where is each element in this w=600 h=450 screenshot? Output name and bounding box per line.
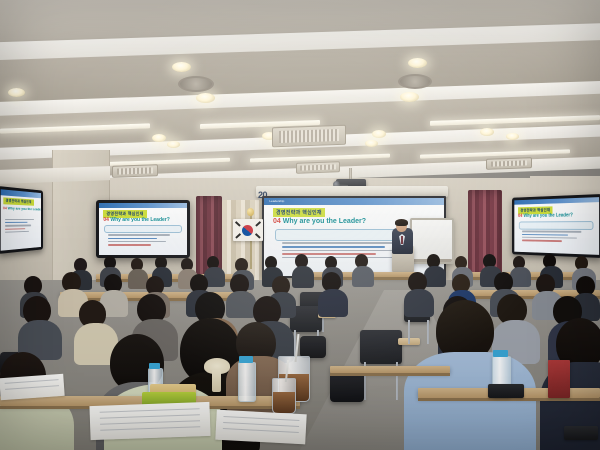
slide-heading-text: Why are you the Leader? [110, 217, 169, 223]
slide-heading: 04 Why are you the Leader? [273, 218, 366, 225]
slide-heading-text: Why are you the Leader? [8, 206, 41, 212]
ceiling-downlight [372, 130, 386, 138]
slide-topbar [99, 203, 187, 208]
torso [128, 269, 148, 289]
left-wall-tv[interactable]: 경영전략과 핵심인재 04 Why are you the Leader? [0, 186, 43, 254]
slide-topbar-label: Leadership [269, 199, 284, 203]
presenter-tie [401, 236, 403, 244]
ceiling-downlight [152, 134, 166, 142]
slide-heading-number: 04 [3, 205, 7, 210]
slide-heading-number: 04 [273, 218, 281, 225]
slide-bullet-lines [522, 231, 592, 245]
slide-callout-box [104, 225, 181, 233]
red-box [548, 360, 570, 398]
slide-bullet-lines [108, 234, 180, 248]
slide-korean-title: 경영전략과 핵심인재 [3, 197, 34, 205]
torso [510, 267, 531, 287]
slide-heading: 04 Why are you the Leader? [103, 217, 169, 223]
water-bottle [238, 362, 256, 402]
right-wall-tv[interactable]: 경영전략과 핵심인재 04 Why are you the Leader? [512, 194, 600, 258]
slide-heading: 04 Why are you the Leader? [518, 213, 573, 219]
torso [318, 289, 348, 317]
torso [226, 291, 256, 318]
slide-heading-number: 04 [518, 214, 522, 219]
slide-heading-number: 04 [103, 217, 109, 223]
taeguk-circle [242, 225, 253, 236]
slide-callout-box [519, 221, 594, 229]
iced-coffee-cup [272, 378, 296, 414]
slide-bullet-lines [5, 219, 38, 235]
ceiling-downlight [8, 88, 25, 97]
ceiling-downlight [196, 93, 215, 103]
flag-finial [247, 208, 254, 216]
handout-paper [0, 374, 65, 400]
desk-row [330, 366, 450, 373]
handout-paper [89, 402, 210, 440]
ceiling-downlight [506, 133, 519, 140]
lecture-hall-photo: 20 Leadership 경영전략과 핵심인재 04 Why are you … [0, 0, 600, 450]
trigram-bar [235, 233, 240, 238]
slide-left-secondary: 경영전략과 핵심인재 04 Why are you the Leader? [99, 203, 187, 255]
bottle-cap [493, 350, 508, 357]
ceiling-hvac-vent [296, 161, 340, 174]
ceiling-sprinkler [178, 76, 214, 92]
slide-topbar: Leadership [264, 198, 444, 205]
chair-leg [408, 320, 410, 344]
right-wall-tv-surface: 경영전략과 핵심인재 04 Why are you the Leader? [514, 197, 599, 255]
coffee-liquid [273, 392, 295, 413]
ceiling-hvac-vent [112, 164, 158, 178]
bottle-cap [149, 363, 160, 369]
slide-heading-text: Why are you the Leader? [523, 213, 572, 219]
handout-paper [215, 410, 306, 445]
trigram-bar [235, 221, 240, 226]
left-secondary-surface: 경영전략과 핵심인재 04 Why are you the Leader? [99, 203, 187, 255]
ceiling-downlight [172, 62, 191, 72]
ceiling-hvac-vent [486, 157, 532, 170]
slide-right-wall: 경영전략과 핵심인재 04 Why are you the Leader? [514, 197, 599, 255]
ceiling-hvac-vent [272, 125, 346, 148]
korean-flag-icon [233, 219, 263, 241]
trigram-bar [255, 233, 260, 238]
torso [352, 266, 374, 287]
chair-leg [427, 320, 429, 344]
ceiling-downlight [167, 141, 180, 148]
slide-left-wall: 경영전략과 핵심인재 04 Why are you the Leader? [1, 189, 41, 250]
slide-heading: 04 Why are you the Leader? [3, 205, 41, 211]
presenter-hair [395, 219, 408, 226]
left-secondary-monitor[interactable]: 경영전략과 핵심인재 04 Why are you the Leader? [96, 200, 190, 258]
backpack [300, 336, 326, 358]
chair-back [360, 330, 402, 364]
smartphone[interactable] [564, 426, 598, 440]
smartphone[interactable] [488, 384, 524, 398]
ceiling-downlight [480, 128, 494, 136]
left-wall-tv-surface: 경영전략과 핵심인재 04 Why are you the Leader? [1, 189, 41, 250]
ceiling-downlight [365, 140, 378, 147]
hair-ribbon-tail [212, 370, 221, 392]
slide-heading-text: Why are you the Leader? [283, 218, 366, 225]
torso [404, 289, 434, 317]
slide-topbar [514, 197, 599, 205]
ceiling-downlight [400, 92, 419, 102]
backpack [330, 372, 364, 402]
ceiling-downlight [408, 58, 427, 68]
torso [424, 266, 446, 287]
trigram-bar [255, 221, 260, 226]
slide-topbar [1, 189, 41, 198]
ceiling-sprinkler [398, 74, 432, 89]
slide-korean-title: 경영전략과 핵심인재 [273, 208, 325, 217]
torso [292, 266, 314, 288]
bottle-cap [239, 356, 253, 363]
